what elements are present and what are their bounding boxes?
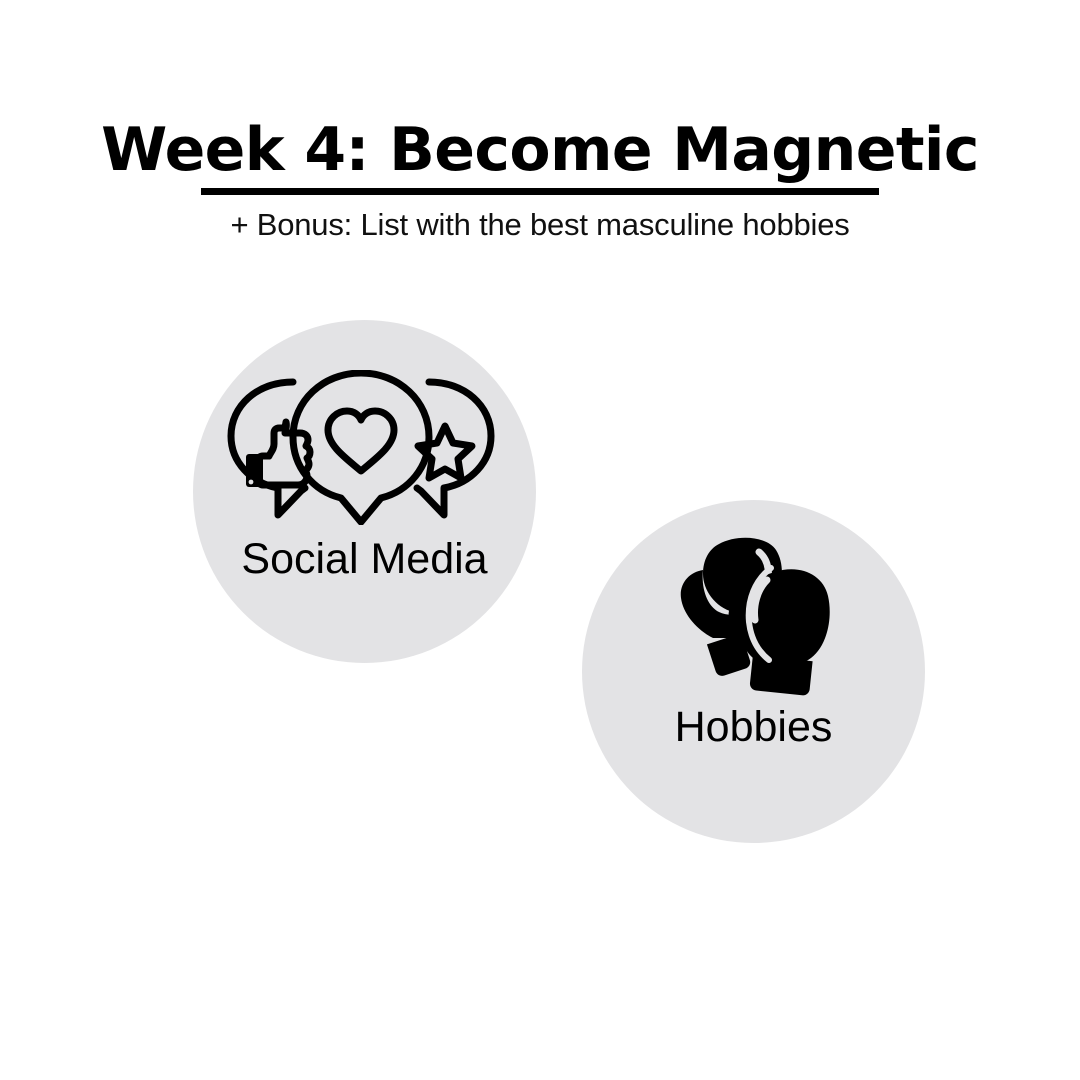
page-subtitle: + Bonus: List with the best masculine ho… xyxy=(0,205,1080,245)
page-title: Week 4: Become Magnetic xyxy=(0,114,1080,186)
topic-label-social-media: Social Media xyxy=(193,534,536,584)
boxing-gloves-icon xyxy=(671,534,839,702)
topic-bubble-social-media[interactable]: Social Media xyxy=(193,320,536,663)
slide-canvas: Week 4: Become Magnetic + Bonus: List wi… xyxy=(0,0,1080,1080)
title-underline xyxy=(201,188,879,195)
header: Week 4: Become Magnetic + Bonus: List wi… xyxy=(0,0,1080,260)
topic-label-hobbies: Hobbies xyxy=(582,702,925,752)
topic-bubble-hobbies[interactable]: Hobbies xyxy=(582,500,925,843)
social-engagement-bubbles-icon xyxy=(227,370,495,525)
